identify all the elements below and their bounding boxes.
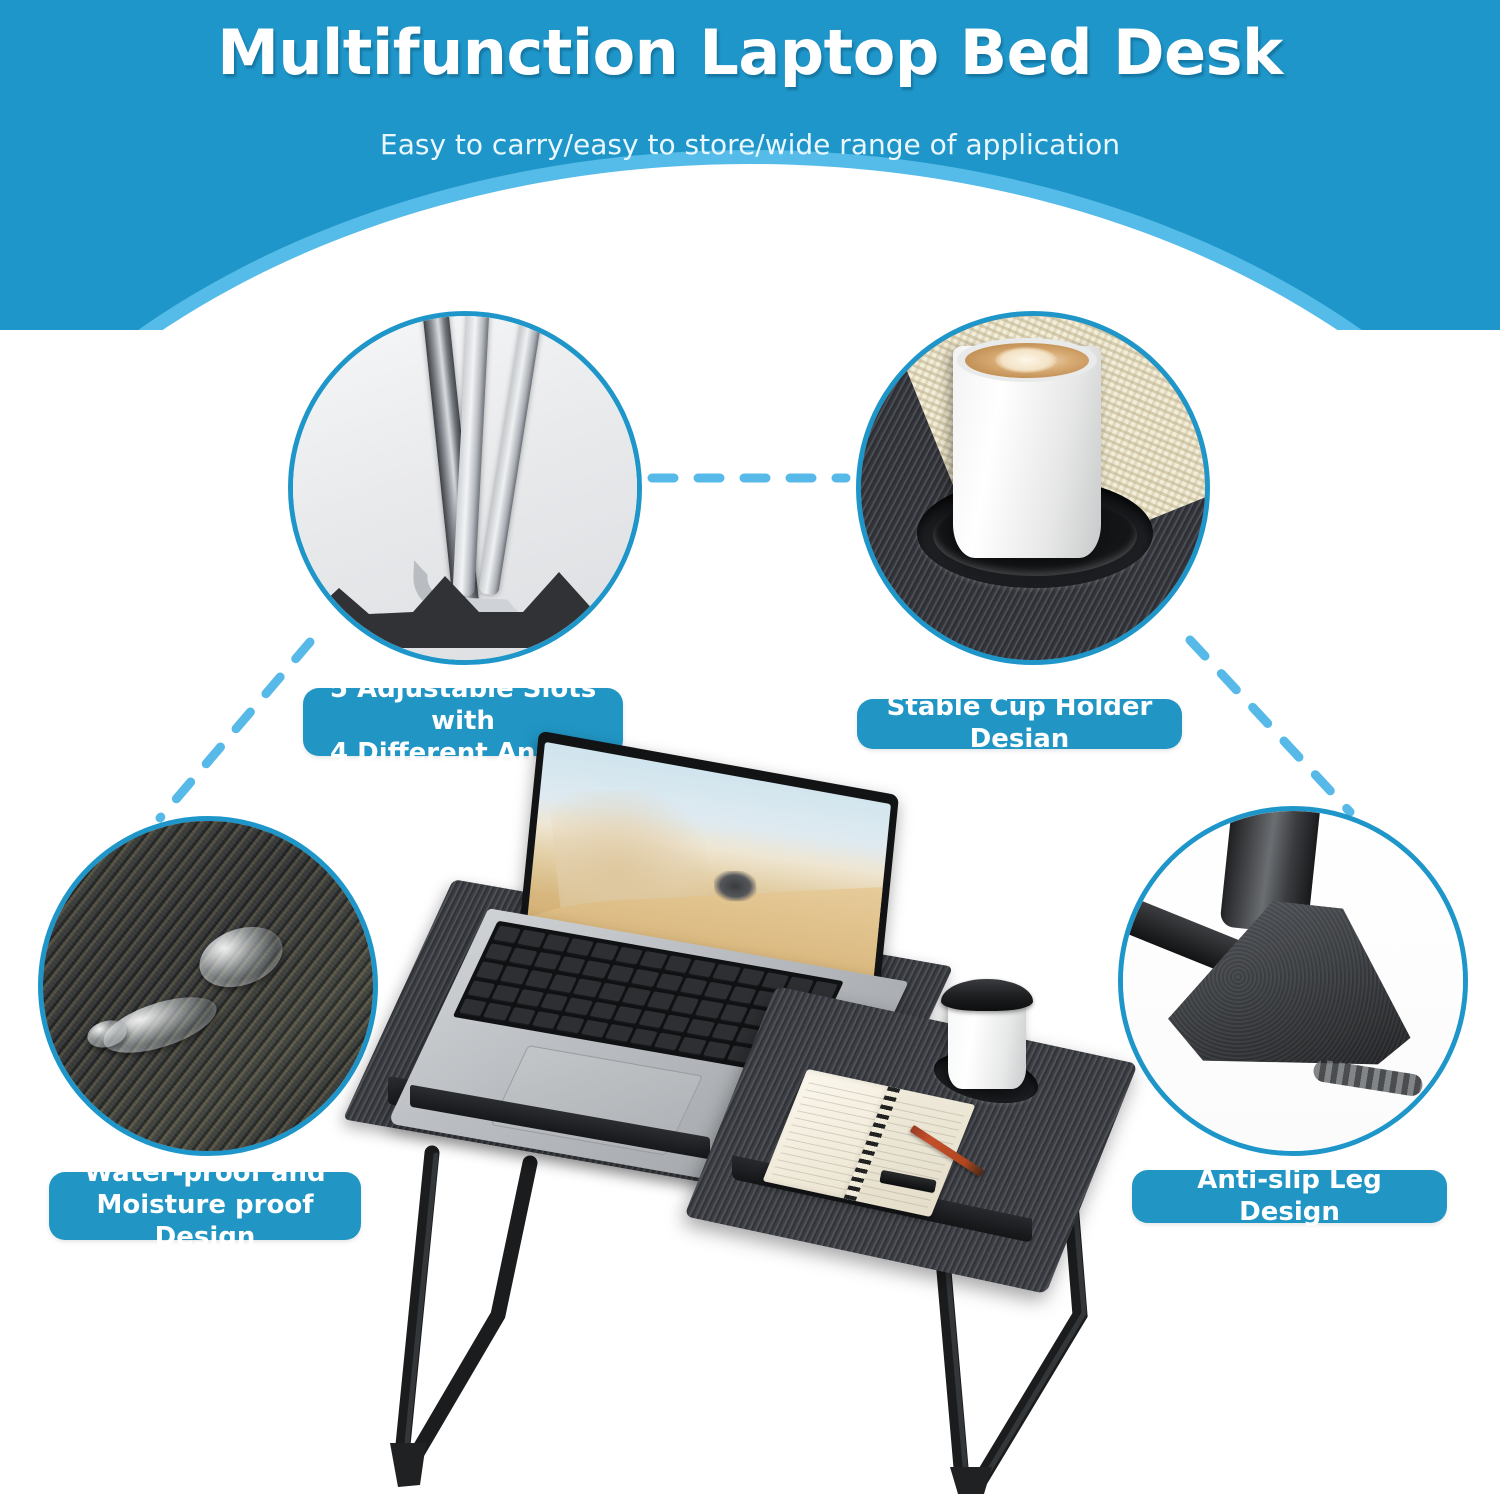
connector-right [1190,640,1350,812]
feature-label-cup-holder: Stable Cup Holder Desian [857,699,1182,749]
product-photo-laptop-bed-desk [380,755,1120,1494]
badge-line-2: Moisture proof Design [96,1190,313,1252]
header-arc-shape [0,150,1500,330]
latte-art [995,347,1057,373]
wallpaper-motocross-rider [713,871,757,902]
badge-line-1: 5 Adjustable Slots with [330,674,596,736]
connector-left [160,642,310,818]
rubber-foot-right [950,1467,992,1494]
feature-label-water-proof: Water-proof and Moisture proof Design [49,1172,361,1240]
page-title: Multifunction Laptop Bed Desk [0,16,1500,89]
badge-line-1: Water-proof and [84,1158,325,1188]
leg-front-left [402,1153,432,1455]
slot-notches [288,562,642,648]
page-subtitle: Easy to carry/easy to store/wide range o… [0,128,1500,161]
rubber-foot-left [390,1443,426,1487]
feature-label-anti-slip-leg: Anti-slip Leg Design [1132,1170,1447,1223]
waterproof-surface-texture [43,821,373,1151]
feature-photo-water-proof [38,816,378,1156]
feature-photo-cup-holder [856,311,1210,665]
product-infographic: Multifunction Laptop Bed Desk Easy to ca… [0,0,1500,1494]
feature-photo-anti-slip-leg [1118,806,1468,1156]
feature-photo-adjustable-slots [288,311,642,665]
